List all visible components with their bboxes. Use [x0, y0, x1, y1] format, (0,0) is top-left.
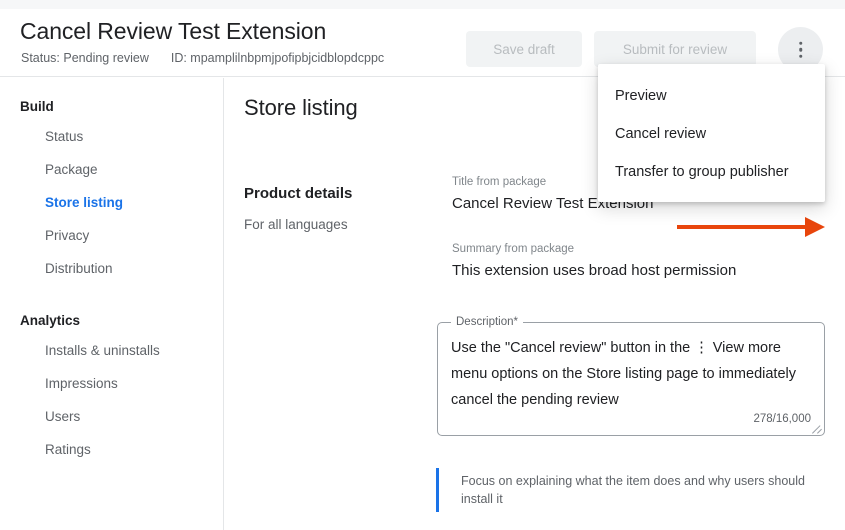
save-draft-button[interactable]: Save draft [466, 31, 582, 67]
sidebar-item-users[interactable]: Users [0, 400, 223, 433]
description-field-value[interactable]: Use the "Cancel review" button in the ⋮ … [451, 335, 801, 413]
arrow-right-icon [677, 216, 825, 238]
description-hint-text: Focus on explaining what the item does a… [461, 472, 826, 508]
sidebar-section-build: Build [0, 93, 223, 120]
description-field-legend: Description* [451, 316, 523, 328]
product-details-heading: Product details [244, 185, 352, 202]
sidebar-item-privacy[interactable]: Privacy [0, 219, 223, 252]
sidebar-section-analytics: Analytics [0, 307, 223, 334]
page-title: Store listing [244, 95, 358, 121]
red-arrow-annotation [677, 216, 825, 238]
submit-for-review-button[interactable]: Submit for review [594, 31, 756, 67]
summary-field-value: This extension uses broad host permissio… [452, 262, 736, 279]
sidebar-item-impressions[interactable]: Impressions [0, 367, 223, 400]
resize-handle-icon[interactable] [812, 423, 823, 434]
top-strip [0, 0, 845, 9]
extension-id-text: ID: mpamplilnbpmjpofipbjcidblopdcppc [171, 51, 384, 65]
summary-field-label: Summary from package [452, 243, 736, 255]
sidebar-item-status[interactable]: Status [0, 120, 223, 153]
sidebar-item-installs-uninstalls[interactable]: Installs & uninstalls [0, 334, 223, 367]
sidebar-item-package[interactable]: Package [0, 153, 223, 186]
more-options-menu: Preview Cancel review Transfer to group … [598, 64, 825, 202]
summary-from-package-field: Summary from package This extension uses… [452, 243, 736, 279]
description-hint: Focus on explaining what the item does a… [436, 468, 826, 512]
extension-name: Cancel Review Test Extension [20, 18, 326, 45]
sidebar-item-store-listing[interactable]: Store listing [0, 186, 223, 219]
extension-meta: Status: Pending reviewID: mpamplilnbpmjp… [21, 51, 384, 65]
description-textarea-container[interactable]: Description* Use the "Cancel review" but… [437, 322, 825, 436]
more-vert-icon [799, 41, 803, 58]
menu-item-preview[interactable]: Preview [598, 77, 825, 115]
status-text: Status: Pending review [21, 51, 149, 65]
app-root: Cancel Review Test Extension Status: Pen… [0, 0, 845, 530]
sidebar-nav: Build Status Package Store listing Priva… [0, 78, 224, 530]
menu-item-cancel-review[interactable]: Cancel review [598, 115, 825, 153]
description-character-counter: 278/16,000 [753, 413, 811, 425]
menu-item-transfer-to-group-publisher[interactable]: Transfer to group publisher [598, 153, 825, 191]
product-details-subtitle: For all languages [244, 217, 348, 232]
sidebar-item-ratings[interactable]: Ratings [0, 433, 223, 466]
sidebar-item-distribution[interactable]: Distribution [0, 252, 223, 285]
